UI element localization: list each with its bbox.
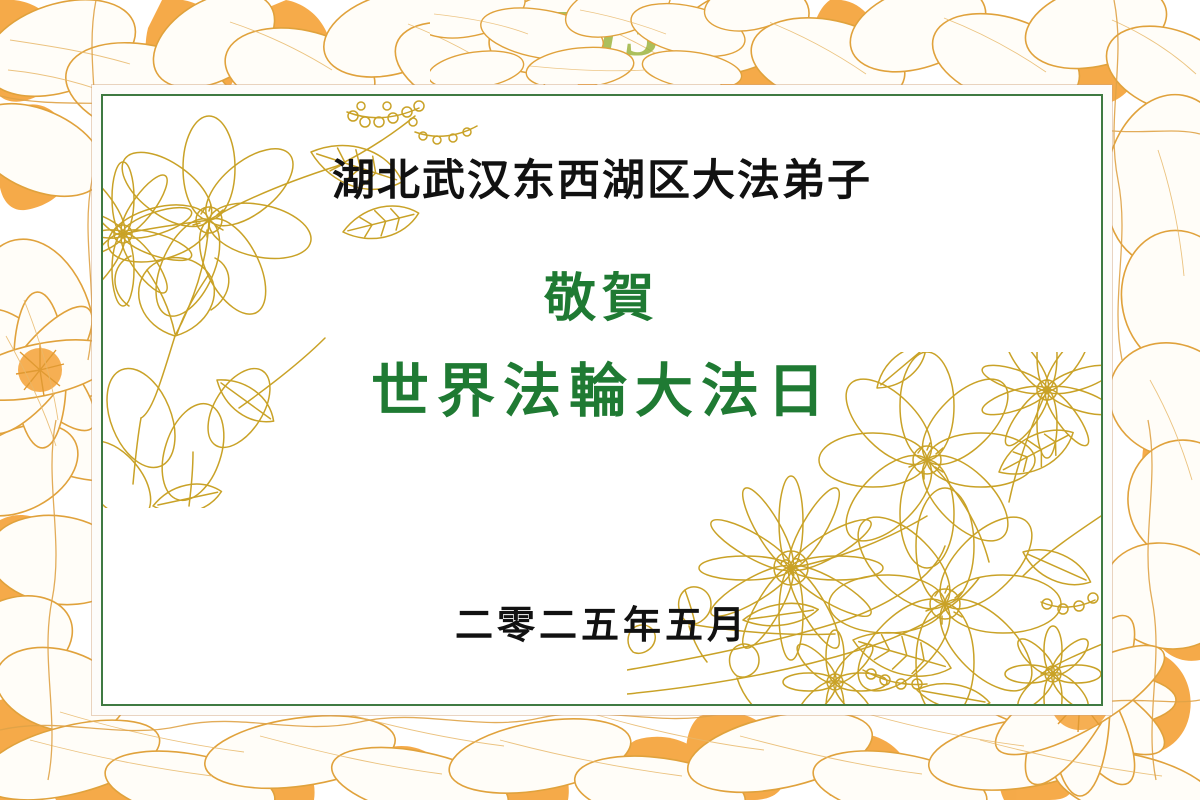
card-green-border: 湖北武汉东西湖区大法弟子 敬賀 世界法輪大法日 二零二五年五月 (101, 94, 1103, 706)
poster-canvas: 5.13 (0, 0, 1200, 800)
date-line: 二零二五年五月 (103, 594, 1101, 649)
sender-line: 湖北武汉东西湖区大法弟子 (103, 146, 1101, 208)
occasion-title-line: 世界法輪大法日 (103, 344, 1101, 428)
greeting-line: 敬賀 (103, 256, 1101, 331)
greeting-card: 湖北武汉东西湖区大法弟子 敬賀 世界法輪大法日 二零二五年五月 (92, 85, 1112, 715)
card-text-block: 湖北武汉东西湖区大法弟子 敬賀 世界法輪大法日 二零二五年五月 (103, 96, 1101, 704)
